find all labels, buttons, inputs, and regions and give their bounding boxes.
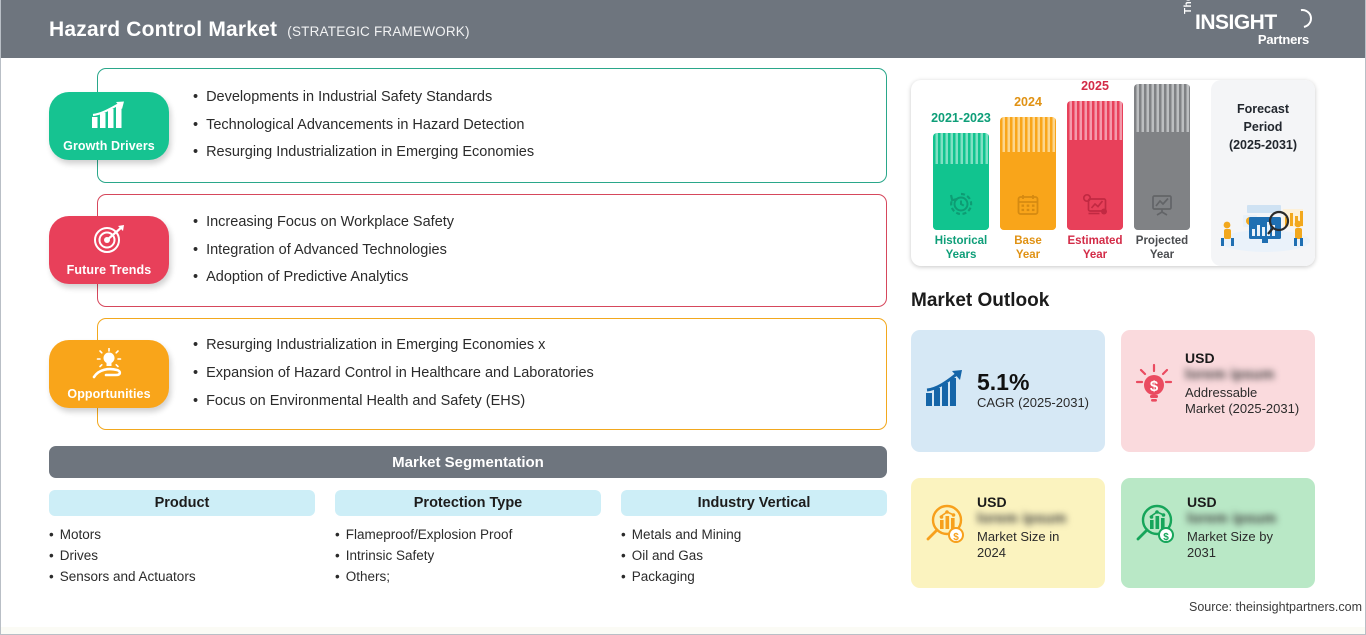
bottom-strip <box>1 627 1366 634</box>
future-trends-bullets: Increasing Focus on Workplace Safety Int… <box>193 195 454 306</box>
list-item: Developments in Industrial Safety Standa… <box>193 90 534 106</box>
list-item: Oil and Gas <box>621 548 887 563</box>
list-item: Sensors and Actuators <box>49 569 315 584</box>
opportunities-bullets: Resurging Industrialization in Emerging … <box>193 319 594 429</box>
segment-title: Product <box>49 490 315 516</box>
caption-line-2: Year <box>1150 249 1174 261</box>
market-size-2031-texts: USD lorem ipsum Market Size by 2031 <box>1187 494 1297 562</box>
list-item: Intrinsic Safety <box>335 548 601 563</box>
growth-drivers-panel: Developments in Industrial Safety Standa… <box>97 68 887 183</box>
list-item: Adoption of Predictive Analytics <box>193 270 454 286</box>
opportunities-panel: Resurging Industrialization in Emerging … <box>97 318 887 430</box>
caption-line-1: Base <box>1014 235 1042 247</box>
logo-arc-icon <box>1289 5 1315 31</box>
timeline-caption: Projected Year <box>1136 235 1188 263</box>
timeline-bar-shape <box>1067 101 1123 230</box>
forecast-line-3: (2025-2031) <box>1229 138 1297 152</box>
cagr-value: 5.1% <box>977 371 1089 394</box>
outlook-card-addressable-market[interactable]: $ USD lorem ipsum Addressable Market (20… <box>1121 330 1315 452</box>
magnifier-chart-icon: $ <box>1133 502 1177 551</box>
target-dart-icon <box>89 224 129 259</box>
timeline-caption: Historical Years <box>935 235 987 263</box>
lightbulb-hand-icon <box>87 348 131 385</box>
segment-list: Metals and Mining Oil and Gas Packaging <box>621 527 887 584</box>
market-segmentation-header: Market Segmentation <box>49 446 887 478</box>
list-item: Drives <box>49 548 315 563</box>
outlook-card-cagr[interactable]: 5.1% CAGR (2025-2031) <box>911 330 1105 452</box>
forecast-timeline-card: 2021-2023 Historical Ye <box>911 80 1315 266</box>
list-item: Increasing Focus on Workplace Safety <box>193 215 454 231</box>
list-item: Resurging Industrialization in Emerging … <box>193 338 594 354</box>
outlook-card-market-size-2024[interactable]: $ USD lorem ipsum Market Size in 2024 <box>911 478 1105 588</box>
caption-line-1: Historical <box>935 235 987 247</box>
forecast-period-panel: Forecast Period (2025-2031) <box>1211 80 1315 266</box>
caption-line-2: Year <box>1083 249 1107 261</box>
bar-chart-arrow-icon <box>923 369 967 414</box>
analytics-dashboard-illustration <box>1213 191 1313 258</box>
source-attribution: Source: theinsightpartners.com <box>1189 600 1362 614</box>
outlook-card-market-size-2031[interactable]: $ USD lorem ipsum Market Size by 2031 <box>1121 478 1315 588</box>
market-size-2024-texts: USD lorem ipsum Market Size in 2024 <box>977 494 1087 562</box>
forecast-period-label: Forecast Period (2025-2031) <box>1211 100 1315 154</box>
card-label: Addressable Market (2025-2031) <box>1185 385 1300 418</box>
magnifier-chart-icon: $ <box>923 502 967 551</box>
badge-opportunities[interactable]: Opportunities <box>49 340 169 408</box>
caption-line-2: Year <box>1016 249 1040 261</box>
segment-column-protection-type: Protection Type Flameproof/Explosion Pro… <box>335 490 601 584</box>
list-item: Integration of Advanced Technologies <box>193 243 454 259</box>
list-item: Motors <box>49 527 315 542</box>
market-outlook-title: Market Outlook <box>911 290 1049 312</box>
page-title: Hazard Control Market <box>49 18 277 42</box>
card-label: Market Size by 2031 <box>1187 529 1297 562</box>
blurred-value: lorem ipsum <box>1187 511 1297 528</box>
caption-line-1: Estimated <box>1068 235 1123 247</box>
list-item: Metals and Mining <box>621 527 887 542</box>
list-item: Technological Advancements in Hazard Det… <box>193 118 534 134</box>
forecast-line-1: Forecast <box>1237 102 1289 116</box>
logo-partners-text: Partners <box>1258 32 1309 47</box>
segment-title: Industry Vertical <box>621 490 887 516</box>
list-item: Flameproof/Explosion Proof <box>335 527 601 542</box>
badge-label: Opportunities <box>67 387 150 401</box>
blurred-value: lorem ipsum <box>1185 367 1300 384</box>
cagr-label: CAGR (2025-2031) <box>977 395 1089 411</box>
list-item: Packaging <box>621 569 887 584</box>
timeline-caption: Base Year <box>1014 235 1042 263</box>
bar-chart-arrow-icon <box>88 100 130 135</box>
timeline-bar-shape <box>1134 84 1190 230</box>
timeline-year: 2024 <box>1014 95 1042 109</box>
badge-label: Future Trends <box>67 263 152 277</box>
logo-the-text: The <box>1183 0 1194 14</box>
market-segmentation-title: Market Segmentation <box>392 454 544 471</box>
page-header: Hazard Control Market (STRATEGIC FRAMEWO… <box>1 0 1366 58</box>
lightbulb-dollar-icon: $ <box>1133 362 1175 411</box>
svg-text:$: $ <box>953 532 959 543</box>
list-item: Others; <box>335 569 601 584</box>
clock-history-icon <box>948 191 974 222</box>
svg-text:$: $ <box>1163 532 1169 543</box>
segment-list: Motors Drives Sensors and Actuators <box>49 527 315 584</box>
segment-title: Protection Type <box>335 490 601 516</box>
currency-label: USD <box>1185 350 1300 366</box>
cagr-texts: 5.1% CAGR (2025-2031) <box>977 371 1089 411</box>
header-title-group: Hazard Control Market (STRATEGIC FRAMEWO… <box>49 18 470 42</box>
currency-label: USD <box>977 494 1087 510</box>
timeline-bar-shape <box>1000 117 1056 230</box>
badge-future-trends[interactable]: Future Trends <box>49 216 169 284</box>
badge-label: Growth Drivers <box>63 139 155 153</box>
addressable-market-texts: USD lorem ipsum Addressable Market (2025… <box>1185 350 1300 418</box>
list-item: Resurging Industrialization in Emerging … <box>193 145 534 161</box>
right-column: 2021-2023 Historical Ye <box>906 58 1366 635</box>
timeline-bar-base: 2024 <box>1000 117 1056 230</box>
timeline-bar-historical: 2021-2023 Historical Ye <box>933 133 989 230</box>
svg-text:$: $ <box>1150 378 1159 395</box>
segment-column-industry-vertical: Industry Vertical Metals and Mining Oil … <box>621 490 887 584</box>
timeline-bar-projected: 2031 Projected Year <box>1134 84 1190 230</box>
presentation-chart-icon <box>1149 193 1175 222</box>
forecast-line-2: Period <box>1244 120 1283 134</box>
timeline-year: 2025 <box>1081 80 1109 93</box>
caption-line-1: Projected <box>1136 235 1188 247</box>
badge-growth-drivers[interactable]: Growth Drivers <box>49 92 169 160</box>
page-subtitle: (STRATEGIC FRAMEWORK) <box>287 24 469 39</box>
timeline-bar-shape <box>933 133 989 230</box>
timeline-caption: Estimated Year <box>1068 235 1123 263</box>
timeline-year: 2021-2023 <box>931 111 991 125</box>
insight-partners-logo: The INSIGHT Partners <box>1183 9 1313 51</box>
caption-line-2: Years <box>946 249 977 261</box>
forecast-chart-icon <box>1082 193 1109 222</box>
segment-column-product: Product Motors Drives Sensors and Actuat… <box>49 490 315 584</box>
list-item: Expansion of Hazard Control in Healthcar… <box>193 366 594 382</box>
future-trends-panel: Increasing Focus on Workplace Safety Int… <box>97 194 887 307</box>
list-item: Focus on Environmental Health and Safety… <box>193 394 594 410</box>
left-column: Developments in Industrial Safety Standa… <box>1 58 906 635</box>
card-label: Market Size in 2024 <box>977 529 1087 562</box>
infographic-page: Hazard Control Market (STRATEGIC FRAMEWO… <box>0 0 1366 635</box>
growth-drivers-bullets: Developments in Industrial Safety Standa… <box>193 69 534 182</box>
currency-label: USD <box>1187 494 1297 510</box>
segment-list: Flameproof/Explosion Proof Intrinsic Saf… <box>335 527 601 584</box>
blurred-value: lorem ipsum <box>977 511 1087 528</box>
calendar-icon <box>1016 193 1040 222</box>
timeline-bar-estimated: 2025 Estimated <box>1067 101 1123 230</box>
